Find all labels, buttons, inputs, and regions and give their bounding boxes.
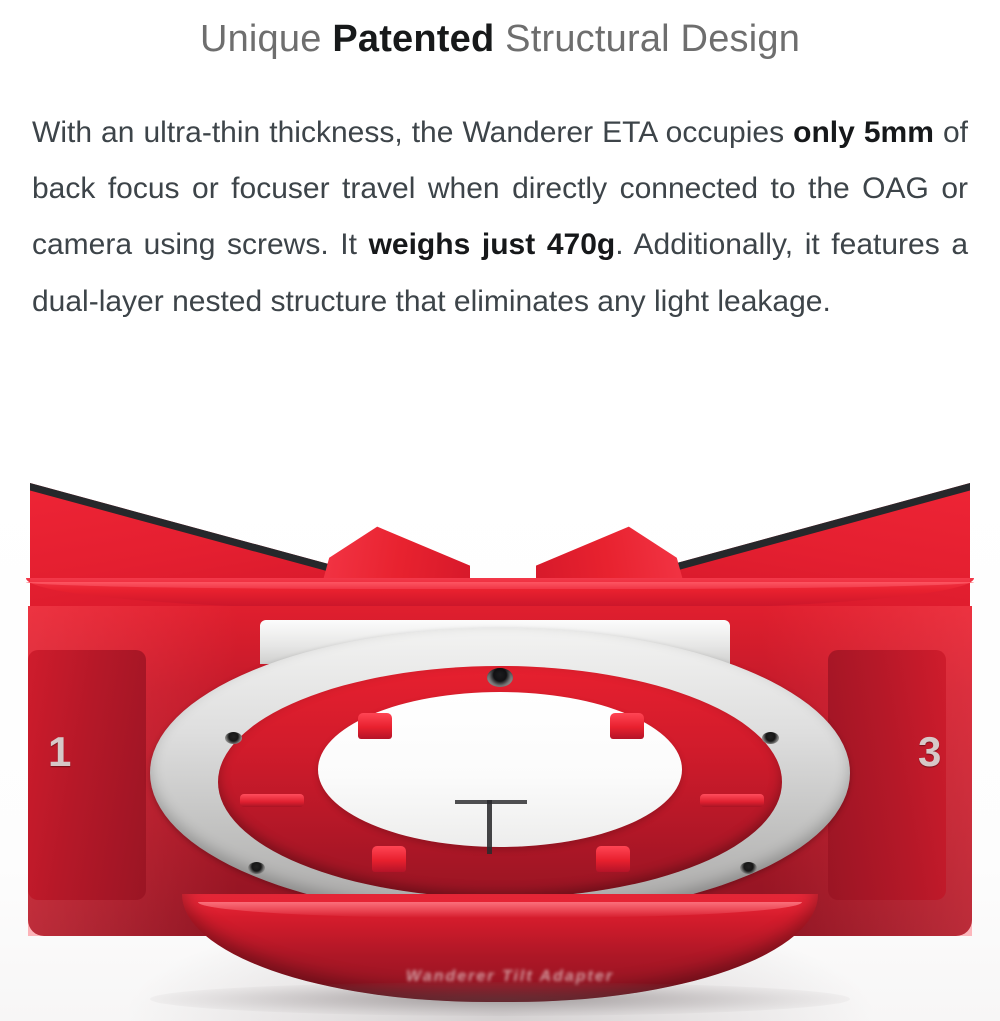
hex-screw-upper-right [762, 732, 779, 744]
adjust-tab-mid-right [700, 794, 764, 807]
engraved-number-3: 3 [918, 728, 941, 776]
page-title-prefix: Unique [200, 18, 332, 60]
paragraph-bold-weight: weighs just 470g [369, 228, 616, 261]
product-photo-stage: 1 3 Wanderer Tilt Adapter [0, 470, 1000, 1021]
hex-screw-lower-right [740, 862, 757, 874]
adjust-tab-upper-right [610, 713, 644, 739]
intro-paragraph: With an ultra-thin thickness, the Wander… [32, 105, 968, 329]
hex-screw-upper-left [225, 732, 242, 744]
page-title: Unique Patented Structural Design [0, 0, 1000, 69]
page-title-suffix: Structural Design [494, 18, 800, 60]
product-photo: 1 3 Wanderer Tilt Adapter [0, 470, 1000, 1021]
adjust-tab-lower-right [596, 846, 630, 872]
intro-block: With an ultra-thin thickness, the Wander… [0, 69, 1000, 329]
centre-seam-vertical [487, 800, 492, 854]
paragraph-segment-1: With an ultra-thin thickness, the Wander… [32, 116, 793, 149]
hex-screw-lower-left [248, 862, 265, 874]
adjust-tab-lower-left [372, 846, 406, 872]
side-pillar-left [28, 650, 146, 900]
contact-shadow [150, 982, 850, 1016]
adjust-tab-mid-left [240, 794, 304, 807]
hex-screw-top-centre [487, 668, 513, 687]
adjust-tab-upper-left [358, 713, 392, 739]
page-title-highlight: Patented [332, 18, 494, 60]
engraved-number-1: 1 [48, 728, 71, 776]
paragraph-bold-back-focus: only 5mm [793, 116, 934, 149]
